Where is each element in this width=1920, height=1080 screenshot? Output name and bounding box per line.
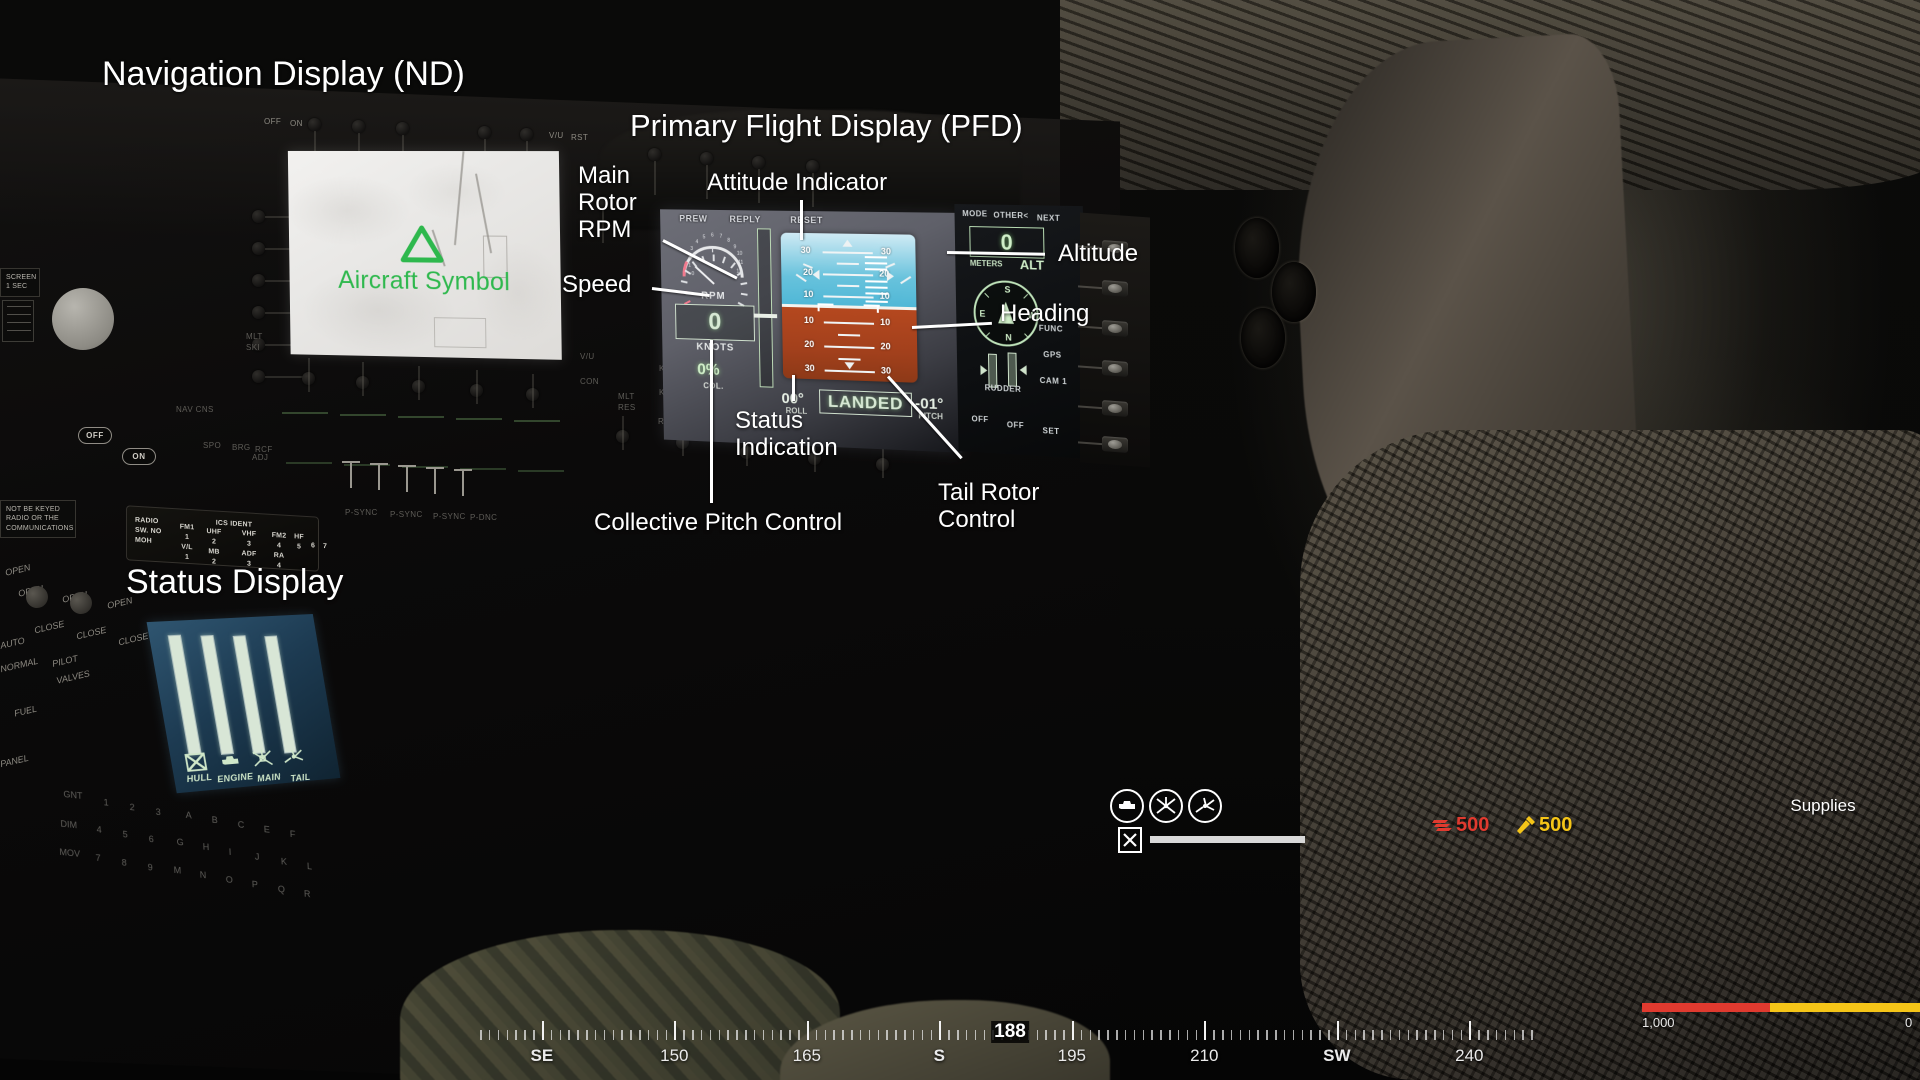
micro-label-con: CON (580, 377, 599, 386)
compass-tick-major (1337, 1021, 1339, 1040)
tail-rotor-icon (282, 747, 306, 766)
hud-hammer-value: 500 (1539, 814, 1572, 837)
compass-tick-minor (710, 1030, 712, 1040)
aircraft-symbol-label: Aircraft Symbol (289, 265, 561, 298)
compass-tick-minor (1284, 1030, 1286, 1040)
compass-label-165: 165 (793, 1046, 821, 1066)
compass-tick-minor (922, 1030, 924, 1040)
bank-pointer-top (842, 240, 852, 247)
placard-screen-text: SCREEN 1 SEC (6, 274, 36, 290)
rpm-scale-number: 9 (733, 244, 736, 250)
compass-tick-minor (1346, 1030, 1348, 1040)
round-gauge-knob[interactable] (52, 288, 114, 350)
compass-tick-minor (851, 1030, 853, 1040)
adi-pitch-label-30-right: 30 (881, 246, 891, 256)
compass-tick-minor (1178, 1030, 1180, 1040)
adi-pitch-label-n30-left: 30 (805, 363, 815, 373)
micro-label-vu: V/U (549, 131, 564, 140)
compass-cardinal-e: E (979, 309, 985, 319)
hud-ammo-value: 500 (1456, 814, 1489, 837)
placard-radio-warning: NOT BE KEYED RADIO OR THE COMMUNICATIONS (0, 500, 76, 538)
leader-attitude-indicator (800, 200, 803, 240)
compass-cardinal-s: S (1004, 285, 1010, 295)
compass-tick-minor (1098, 1030, 1100, 1040)
compass-tick-minor (533, 1030, 535, 1040)
micro-label-nav-cns: NAV CNS (176, 405, 214, 414)
compass-tick-minor (984, 1030, 986, 1040)
compass-tick-minor (886, 1030, 888, 1040)
compass-tick-minor (727, 1030, 729, 1040)
compass-tick-minor (1452, 1030, 1454, 1040)
compass-tick-minor (560, 1030, 562, 1040)
compass-label-240: 240 (1455, 1046, 1483, 1066)
compass-tick-minor (1328, 1030, 1330, 1040)
compass-tick-minor (1249, 1030, 1251, 1040)
compass-label-s: S (934, 1046, 945, 1066)
status-display-panel[interactable]: HULL ENGINE MAIN TAIL (147, 614, 341, 793)
compass-label-150: 150 (660, 1046, 688, 1066)
compass-tick-minor (1293, 1030, 1295, 1040)
compass-tick-minor (1399, 1030, 1401, 1040)
damage-bar-engine (200, 635, 234, 755)
radio-col-6[interactable]: 6 (307, 541, 319, 552)
compass-tick-minor (1381, 1030, 1383, 1040)
compass-tick-minor (621, 1030, 623, 1040)
compass-tick-minor (480, 1030, 482, 1040)
compass-tick-minor (551, 1030, 553, 1040)
annotation-status-display: Status Display (126, 563, 343, 602)
compass-tick-minor (1134, 1030, 1136, 1040)
adi-pitch-label-n10-left: 10 (804, 315, 814, 325)
compass-tick-minor (878, 1030, 880, 1040)
main-rotor-rpm-gauge: 0123456789101112 (678, 227, 749, 289)
micro-label-res: RES (618, 403, 636, 412)
compass-tick-minor (1443, 1030, 1445, 1040)
annotation-collective-pitch: Collective Pitch Control (594, 510, 842, 537)
micro-label-rst: RST (571, 133, 588, 142)
rudder-pointer-right (1020, 365, 1027, 375)
bezel-button-5[interactable] (1102, 400, 1128, 417)
pfd-label-set[interactable]: SET (1042, 426, 1059, 436)
compass-label-210: 210 (1190, 1046, 1218, 1066)
compass-tick-minor (648, 1030, 650, 1040)
micro-label-mlt: MLT (246, 332, 263, 341)
radio-col-fm1[interactable]: FM1 1 V/L 1 (175, 522, 199, 564)
compass-tick-minor (1522, 1030, 1524, 1040)
compass-tick-minor (1355, 1030, 1357, 1040)
compass-tick-minor (657, 1030, 659, 1040)
compass-tick-minor (842, 1030, 844, 1040)
compass-tick-minor (931, 1030, 933, 1040)
compass-tick-minor (1531, 1030, 1533, 1040)
compass-tick-minor (1037, 1030, 1039, 1040)
compass-tick-minor (816, 1030, 818, 1040)
bank-pointer-left (812, 270, 819, 280)
compass-tick-minor (1408, 1030, 1410, 1040)
compass-tick-minor (1125, 1030, 1127, 1040)
compass-tick-minor (745, 1030, 747, 1040)
compass-tick-minor (913, 1030, 915, 1040)
compass-tick-minor (595, 1030, 597, 1040)
micro-label-vu2: V/U (580, 352, 595, 361)
damage-label-tail: TAIL (290, 772, 311, 783)
rpm-scale-number: 7 (720, 234, 723, 240)
rpm-scale-number: 3 (690, 246, 693, 252)
collective-percent-value: 0% (697, 361, 720, 380)
annotation-attitude-indicator: Attitude Indicator (707, 170, 887, 197)
pitch-pointer-bottom (844, 362, 854, 369)
pfd-label-off-2[interactable]: OFF (1007, 420, 1024, 430)
engine-icon (219, 753, 241, 769)
compass-tick-minor (763, 1030, 765, 1040)
compass-tick-minor (1514, 1030, 1516, 1040)
compass-tick-minor (701, 1030, 703, 1040)
radio-title: RADIO SW. NO MOH (135, 516, 161, 548)
compass-tick-minor (1240, 1030, 1242, 1040)
rpm-scale-number: 8 (727, 238, 730, 244)
micro-label-ski: SKI (246, 343, 260, 352)
compass-tick-minor (630, 1030, 632, 1040)
hud-hammer-icon (1515, 814, 1537, 836)
altitude-unit-label: METERS (970, 259, 1003, 269)
micro-label-off: OFF (264, 117, 281, 126)
compass-cardinal-n: N (1005, 332, 1012, 342)
compass-tick-minor (577, 1030, 579, 1040)
micro-label-psync-2: P-SYNC (390, 510, 423, 519)
micro-label-adj: ADJ (252, 453, 268, 462)
compass-tick-minor (1363, 1030, 1365, 1040)
compass-tick-major (1204, 1021, 1206, 1040)
micro-label-psync-3: P-SYNC (433, 512, 466, 521)
button-on-label: ON (132, 452, 145, 461)
compass-tick-minor (683, 1030, 685, 1040)
compass-tick-minor (1081, 1030, 1083, 1040)
compass-tick-minor (957, 1030, 959, 1040)
rpm-scale-number: 12 (736, 268, 742, 274)
compass-tick-minor (1425, 1030, 1427, 1040)
porthole-3 (1241, 308, 1285, 368)
damage-label-main: MAIN (256, 772, 281, 784)
compass-tick-minor (798, 1030, 800, 1040)
annotation-speed: Speed (562, 272, 631, 299)
pfd-button-prew[interactable]: PREW (679, 213, 707, 223)
compass-tick-minor (524, 1030, 526, 1040)
compass-tick-minor (613, 1030, 615, 1040)
rpm-tick (713, 254, 715, 261)
micro-label-spo: SPO (203, 441, 221, 450)
leader-collective-pitch (710, 340, 713, 503)
bank-pointer-right (887, 271, 894, 281)
hud-ammo-icon (1432, 817, 1454, 835)
airspeed-unit-label: KNOTS (676, 341, 756, 354)
compass-tick-minor (1266, 1030, 1268, 1040)
compass-tick-minor (1505, 1030, 1507, 1040)
airspeed-value: 0 (708, 308, 721, 336)
bezel-button-6[interactable] (1102, 436, 1128, 453)
button-off[interactable]: OFF (78, 427, 112, 444)
hud-supplies-title: Supplies (1790, 796, 1855, 816)
collective-slider-knob[interactable] (754, 314, 778, 319)
compass-tick-minor (833, 1030, 835, 1040)
micro-label-on: ON (290, 119, 303, 128)
bezel-button-4[interactable] (1102, 360, 1128, 377)
hud-bar-max-label: 0 (1905, 1015, 1912, 1030)
damage-label-engine: ENGINE (216, 771, 254, 784)
status-indication-value: LANDED (828, 392, 903, 415)
compass-tick-minor (1434, 1030, 1436, 1040)
compass-tick-minor (719, 1030, 721, 1040)
micro-label-psync-4: P-DNC (470, 513, 497, 522)
compass-tick-minor (975, 1030, 977, 1040)
pfd-button-mode[interactable]: MODE (962, 209, 987, 218)
compass-tick-minor (1275, 1030, 1277, 1040)
damage-label-hull: HULL (186, 772, 213, 784)
rpm-scale-number: 4 (695, 239, 698, 245)
compass-tick-minor (1116, 1030, 1118, 1040)
rpm-scale-number: 6 (711, 233, 714, 239)
compass-tick-minor (904, 1030, 906, 1040)
damage-bar-tail (264, 636, 297, 754)
pfd-button-other[interactable]: OTHER< (993, 211, 1028, 221)
compass-tick-minor (507, 1030, 509, 1040)
altitude-tag-label: ALT (1020, 257, 1044, 273)
hud-engine-icon[interactable] (1110, 789, 1144, 823)
compass-tick-minor (1319, 1030, 1321, 1040)
radio-col-7[interactable]: 7 (319, 542, 331, 553)
compass-tick-minor (1372, 1030, 1374, 1040)
rpm-scale-number: 1 (688, 263, 691, 269)
annotation-pfd-title: Primary Flight Display (PFD) (630, 108, 1023, 144)
compass-tick-minor (948, 1030, 950, 1040)
navigation-display[interactable]: Aircraft Symbol (288, 151, 562, 360)
compass-tick-minor (1416, 1030, 1418, 1040)
compass-label-se: SE (530, 1046, 553, 1066)
pfd-label-off-1[interactable]: OFF (972, 414, 989, 424)
rpm-scale-number: 5 (703, 234, 706, 240)
adi-pitch-label-n10-right: 10 (880, 317, 890, 327)
compass-tick-minor (1160, 1030, 1162, 1040)
compass-tick-major (939, 1021, 941, 1040)
compass-tick-minor (1196, 1030, 1198, 1040)
compass-tick-minor (666, 1030, 668, 1040)
compass-tick-major (1072, 1021, 1074, 1040)
compass-tick-minor (754, 1030, 756, 1040)
compass-tick-minor (869, 1030, 871, 1040)
compass-label-sw: SW (1323, 1046, 1350, 1066)
micro-label-mlt2: MLT (618, 392, 635, 401)
compass-tick-minor (1090, 1030, 1092, 1040)
compass-tick-minor (515, 1030, 517, 1040)
compass-tick-major (542, 1021, 544, 1040)
compass-tick-minor (1487, 1030, 1489, 1040)
hud-repair-progress-bar (1150, 836, 1305, 843)
placard-screen: SCREEN 1 SEC (0, 268, 40, 297)
placard-radio-warning-text: NOT BE KEYED RADIO OR THE COMMUNICATIONS (6, 506, 74, 532)
hud-supply-bar-red (1642, 1003, 1770, 1012)
rudder-pointer-left (980, 365, 987, 375)
hull-icon (184, 752, 207, 772)
compass-tick-minor (489, 1030, 491, 1040)
compass-tick-minor (1461, 1030, 1463, 1040)
annotation-altitude: Altitude (1058, 241, 1138, 268)
collective-label: COL. (703, 381, 724, 391)
rudder-label: RUDDER (985, 383, 1022, 394)
rpm-scale-number: 0 (691, 271, 694, 277)
pfd-button-reset[interactable]: RESET (790, 215, 823, 225)
hud-repair-icon[interactable] (1118, 827, 1142, 853)
damage-bar-hull (168, 635, 202, 756)
porthole-1 (1235, 218, 1279, 278)
compass-tick-minor (1107, 1030, 1109, 1040)
button-on[interactable]: ON (122, 448, 156, 465)
compass-tick-minor (1143, 1030, 1145, 1040)
annotation-tail-rotor: Tail Rotor Control (938, 480, 1039, 534)
compass-tick-minor (825, 1030, 827, 1040)
main-rotor-icon (250, 748, 275, 769)
airspeed-box: 0 (675, 304, 755, 342)
cockpit-floor-mesh (1300, 430, 1920, 1080)
micro-label-brg: BRG (232, 443, 251, 452)
compass-tick-major (1469, 1021, 1471, 1040)
rudder-bar-right[interactable] (1008, 352, 1017, 386)
pfd-label-gps[interactable]: GPS (1043, 350, 1062, 360)
hud-current-heading: 188 (991, 1021, 1029, 1043)
compass-tick-major (674, 1021, 676, 1040)
rpm-scale-number: 10 (737, 251, 743, 257)
aircraft-symbol-icon (400, 225, 444, 263)
compass-tick-major (807, 1021, 809, 1040)
button-off-label: OFF (86, 431, 104, 440)
annotation-heading: Heading (1000, 301, 1089, 328)
placard-lines (2, 300, 34, 342)
micro-label-psync-1: P-SYNC (345, 508, 378, 517)
compass-tick-minor (1478, 1030, 1480, 1040)
hud-supply-bar-yellow (1770, 1003, 1920, 1012)
compass-tick-minor (692, 1030, 694, 1040)
compass-tick-minor (1151, 1030, 1153, 1040)
compass-tick-minor (498, 1030, 500, 1040)
compass-tick-minor (1063, 1030, 1065, 1040)
radio-switch-panel[interactable]: RADIO SW. NO MOH FM1 1 V/L 1 ICS IDENT U… (126, 505, 319, 571)
compass-tick-minor (780, 1030, 782, 1040)
damage-bar-main (233, 635, 266, 754)
compass-tick-minor (789, 1030, 791, 1040)
annotation-main-rotor-rpm: Main Rotor RPM (578, 163, 637, 244)
compass-tick-minor (1187, 1030, 1189, 1040)
compass-tick-minor (1302, 1030, 1304, 1040)
compass-tick-minor (1213, 1030, 1215, 1040)
annotation-status-indication: Status Indication (735, 408, 838, 462)
hud-main-rotor-icon[interactable] (1149, 789, 1183, 823)
compass-tick-minor (736, 1030, 738, 1040)
compass-tick-minor (1310, 1030, 1312, 1040)
compass-tick-minor (1222, 1030, 1224, 1040)
adi-pitch-label-n20-right: 20 (880, 341, 890, 351)
adi-pitch-label-n30-right: 30 (881, 365, 891, 375)
compass-tick-minor (772, 1030, 774, 1040)
compass-tick-minor (604, 1030, 606, 1040)
pfd-button-next[interactable]: NEXT (1037, 213, 1060, 222)
pfd-label-cam1[interactable]: CAM 1 (1040, 376, 1068, 386)
collective-pitch-slider[interactable] (757, 228, 773, 387)
compass-tick-minor (1257, 1030, 1259, 1040)
compass-tick-minor (639, 1030, 641, 1040)
attitude-indicator: 30 30 20 20 10 10 10 10 20 20 30 (781, 233, 918, 383)
compass-tick-minor (568, 1030, 570, 1040)
pfd-button-reply[interactable]: REPLY (729, 214, 761, 224)
compass-tick-minor (1169, 1030, 1171, 1040)
adi-pitch-label-n20-left: 20 (804, 339, 814, 349)
compass-tick-minor (1496, 1030, 1498, 1040)
adi-pitch-label-30-left: 30 (801, 245, 811, 255)
bezel-button-3[interactable] (1102, 320, 1128, 337)
compass-tick-minor (1054, 1030, 1056, 1040)
adi-pitch-label-10-left: 10 (803, 289, 813, 299)
leader-status-indication (792, 375, 795, 401)
compass-tick-minor (895, 1030, 897, 1040)
compass-tick-minor (586, 1030, 588, 1040)
bezel-button-2[interactable] (1102, 280, 1128, 297)
compass-tick-minor (1045, 1030, 1047, 1040)
nd-structure-2 (434, 317, 487, 348)
radio-col-hf[interactable]: HF 5 (291, 532, 307, 553)
compass-tick-minor (1231, 1030, 1233, 1040)
hud-tail-rotor-icon[interactable] (1188, 789, 1222, 823)
rpm-scale-number: 11 (738, 260, 743, 266)
porthole-2 (1272, 262, 1316, 322)
compass-label-195: 195 (1058, 1046, 1086, 1066)
hud-bar-min-label: 1,000 (1642, 1015, 1675, 1030)
annotation-nd-title: Navigation Display (ND) (102, 55, 465, 94)
compass-tick-minor (1390, 1030, 1392, 1040)
compass-tick-minor (966, 1030, 968, 1040)
compass-tick-minor (860, 1030, 862, 1040)
